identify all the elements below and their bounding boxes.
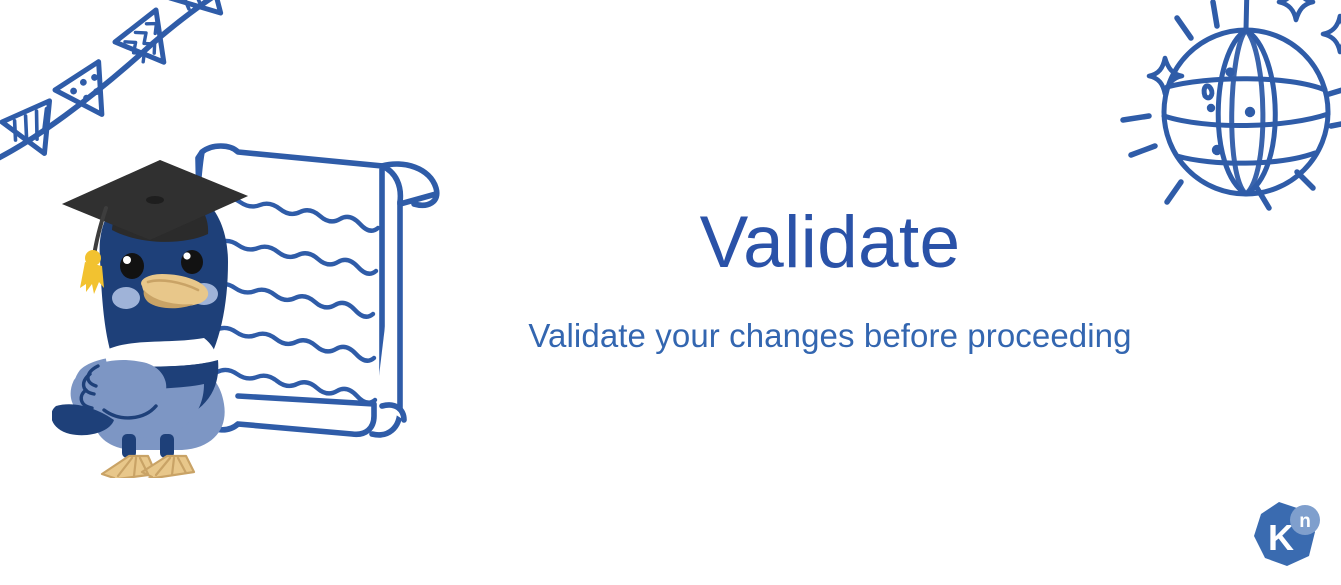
slide-text-block: Validate Validate your changes before pr…: [470, 205, 1190, 356]
disco-ball-icon: [1107, 0, 1341, 235]
paper-scroll-icon: [195, 146, 437, 435]
bird-mascot-with-scroll-illustration: [52, 138, 462, 478]
bird-beak: [141, 274, 208, 308]
bird-body: [52, 160, 248, 478]
brand-logo[interactable]: K n: [1249, 500, 1325, 576]
graduation-cap-icon: [62, 160, 248, 294]
page-title: Validate: [470, 205, 1190, 281]
party-bunting-icon: [0, 0, 232, 179]
slide-canvas: Validate Validate your changes before pr…: [0, 0, 1341, 585]
page-subtitle: Validate your changes before proceeding: [470, 316, 1190, 356]
logo-letter-k: K: [1268, 517, 1294, 558]
logo-letter-n: n: [1299, 511, 1311, 532]
bird-eyes: [120, 250, 203, 279]
